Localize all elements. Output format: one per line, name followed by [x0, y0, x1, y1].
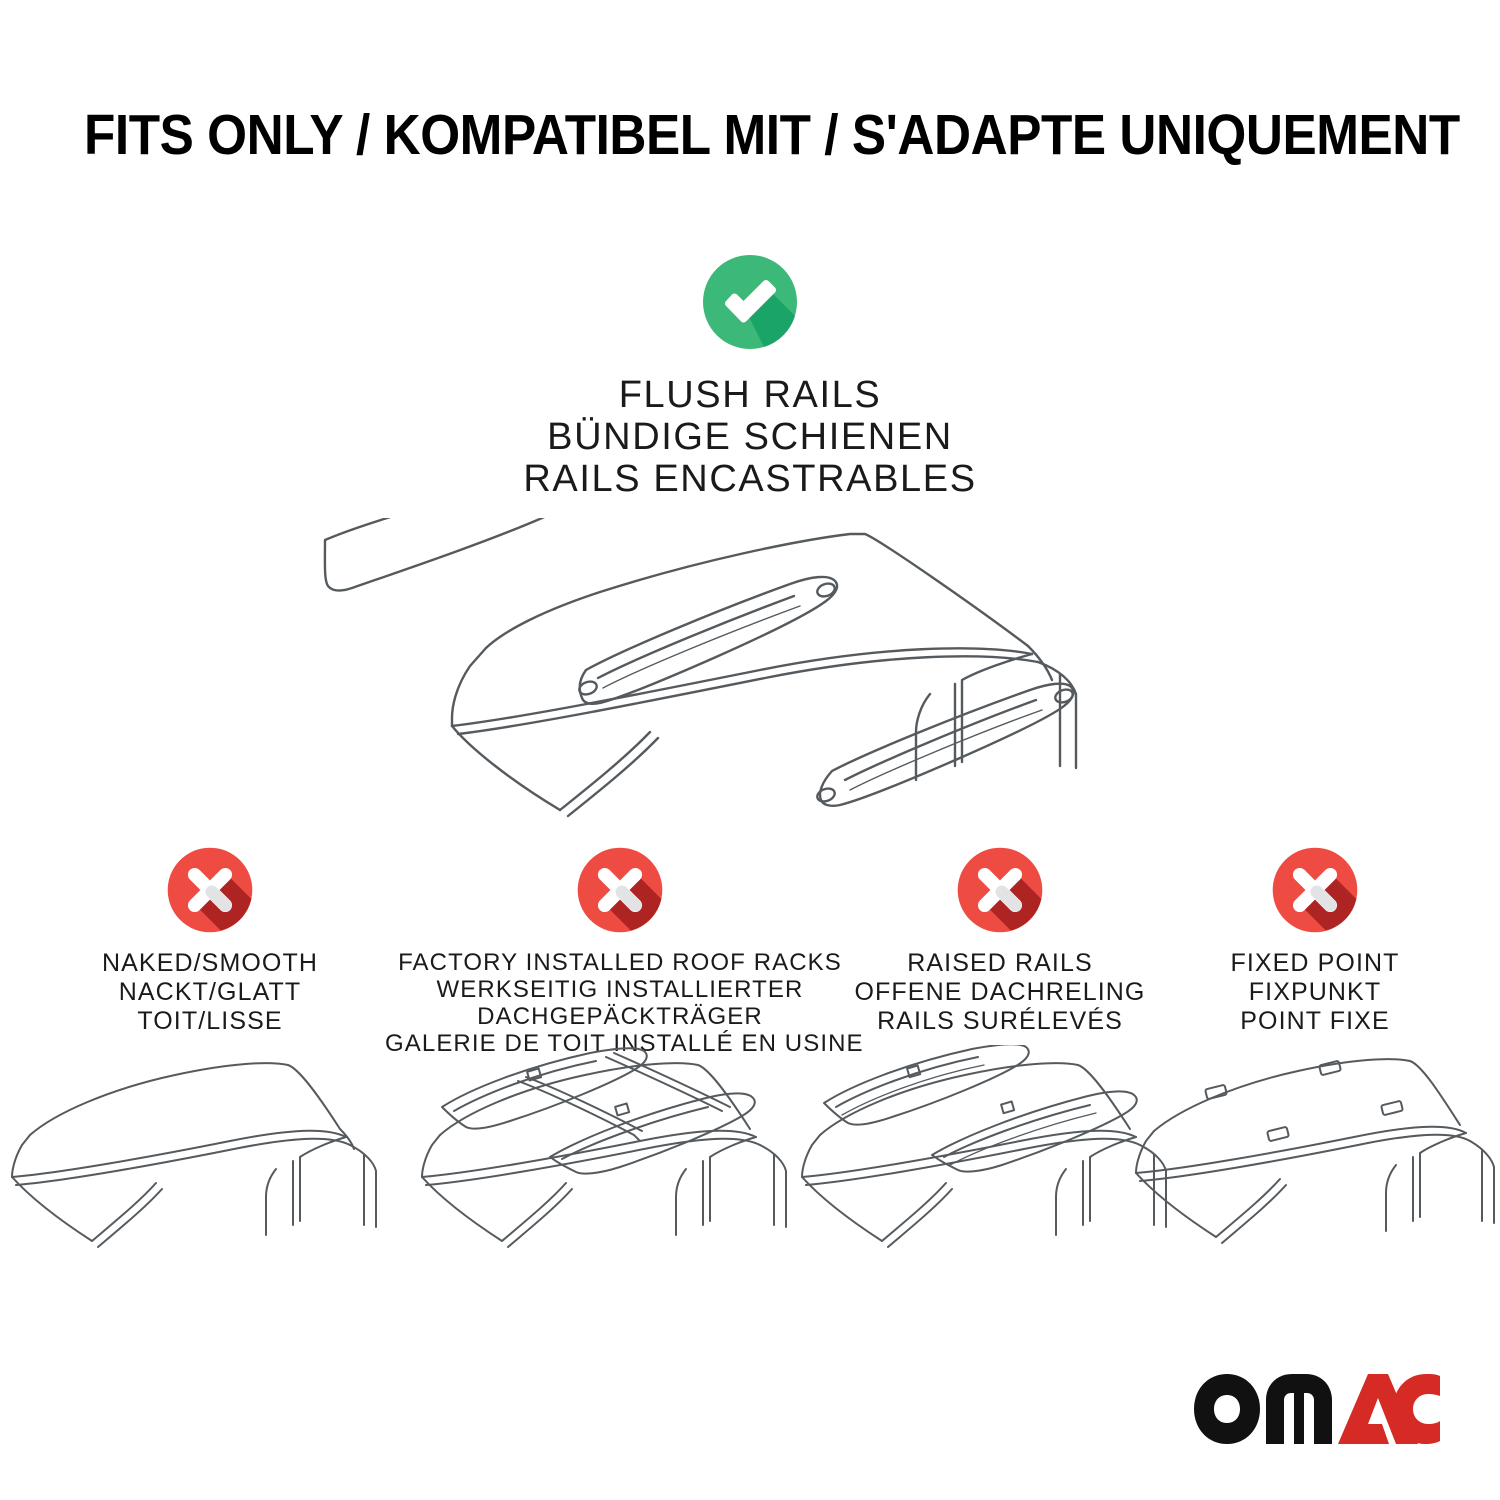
green-check-circle-icon — [700, 252, 800, 352]
logo-letter-m — [1266, 1374, 1332, 1444]
column-label-line-fr: RAILS SURÉLEVÉS — [810, 1007, 1190, 1036]
column-label-line-en: FACTORY INSTALLED ROOF RACKS — [385, 949, 855, 976]
omac-logo — [1192, 1370, 1442, 1448]
compatible-label-line-fr: RAILS ENCASTRABLES — [0, 458, 1500, 500]
column-label-line-de: NACKT/GLATT — [10, 978, 410, 1007]
incompatible-column-naked-smooth: NAKED/SMOOTH NACKT/GLATT TOIT/LISSE — [10, 845, 410, 1036]
compatible-label-line-de: BÜNDIGE SCHIENEN — [0, 416, 1500, 458]
compatible-label-line-en: FLUSH RAILS — [0, 374, 1500, 416]
incompatible-column-raised-rails: RAISED RAILS OFFENE DACHRELING RAILS SUR… — [810, 845, 1190, 1036]
compatible-section: FLUSH RAILS BÜNDIGE SCHIENEN RAILS ENCAS… — [0, 252, 1500, 823]
red-cross-circle-icon — [165, 845, 255, 935]
compatible-label: FLUSH RAILS BÜNDIGE SCHIENEN RAILS ENCAS… — [0, 374, 1500, 500]
red-cross-circle-icon — [955, 845, 1045, 935]
column-label-line-de-1: WERKSEITIG INSTALLIERTER — [385, 976, 855, 1003]
car-roof-fixed-point-diagram — [1130, 1045, 1500, 1285]
column-label-line-fr: POINT FIXE — [1165, 1007, 1465, 1036]
incompatible-column-factory-roof-racks: FACTORY INSTALLED ROOF RACKS WERKSEITIG … — [385, 845, 855, 1057]
column-label-line-de-2: DACHGEPÄCKTRÄGER — [385, 1003, 855, 1030]
column-label-line-en: NAKED/SMOOTH — [10, 949, 410, 978]
column-label: RAISED RAILS OFFENE DACHRELING RAILS SUR… — [810, 949, 1190, 1036]
incompatible-section: NAKED/SMOOTH NACKT/GLATT TOIT/LISSE — [0, 845, 1500, 1325]
column-label: FIXED POINT FIXPUNKT POINT FIXE — [1165, 949, 1465, 1036]
column-label-line-de: OFFENE DACHRELING — [810, 978, 1190, 1007]
logo-letter-o — [1194, 1374, 1260, 1444]
car-roof-flush-rails-diagram — [0, 518, 1500, 818]
red-cross-circle-icon — [1270, 845, 1360, 935]
page-title: FITS ONLY / KOMPATIBEL MIT / S'ADAPTE UN… — [84, 104, 1460, 166]
column-label: FACTORY INSTALLED ROOF RACKS WERKSEITIG … — [385, 949, 855, 1057]
car-roof-factory-racks-diagram — [410, 1045, 830, 1285]
red-cross-circle-icon — [575, 845, 665, 935]
incompatible-column-fixed-point: FIXED POINT FIXPUNKT POINT FIXE — [1165, 845, 1465, 1036]
column-label-line-fr: TOIT/LISSE — [10, 1007, 410, 1036]
car-roof-naked-smooth-diagram — [0, 1045, 420, 1285]
column-label-line-de: FIXPUNKT — [1165, 978, 1465, 1007]
column-label-line-en: RAISED RAILS — [810, 949, 1190, 978]
column-label: NAKED/SMOOTH NACKT/GLATT TOIT/LISSE — [10, 949, 410, 1036]
column-label-line-en: FIXED POINT — [1165, 949, 1465, 978]
